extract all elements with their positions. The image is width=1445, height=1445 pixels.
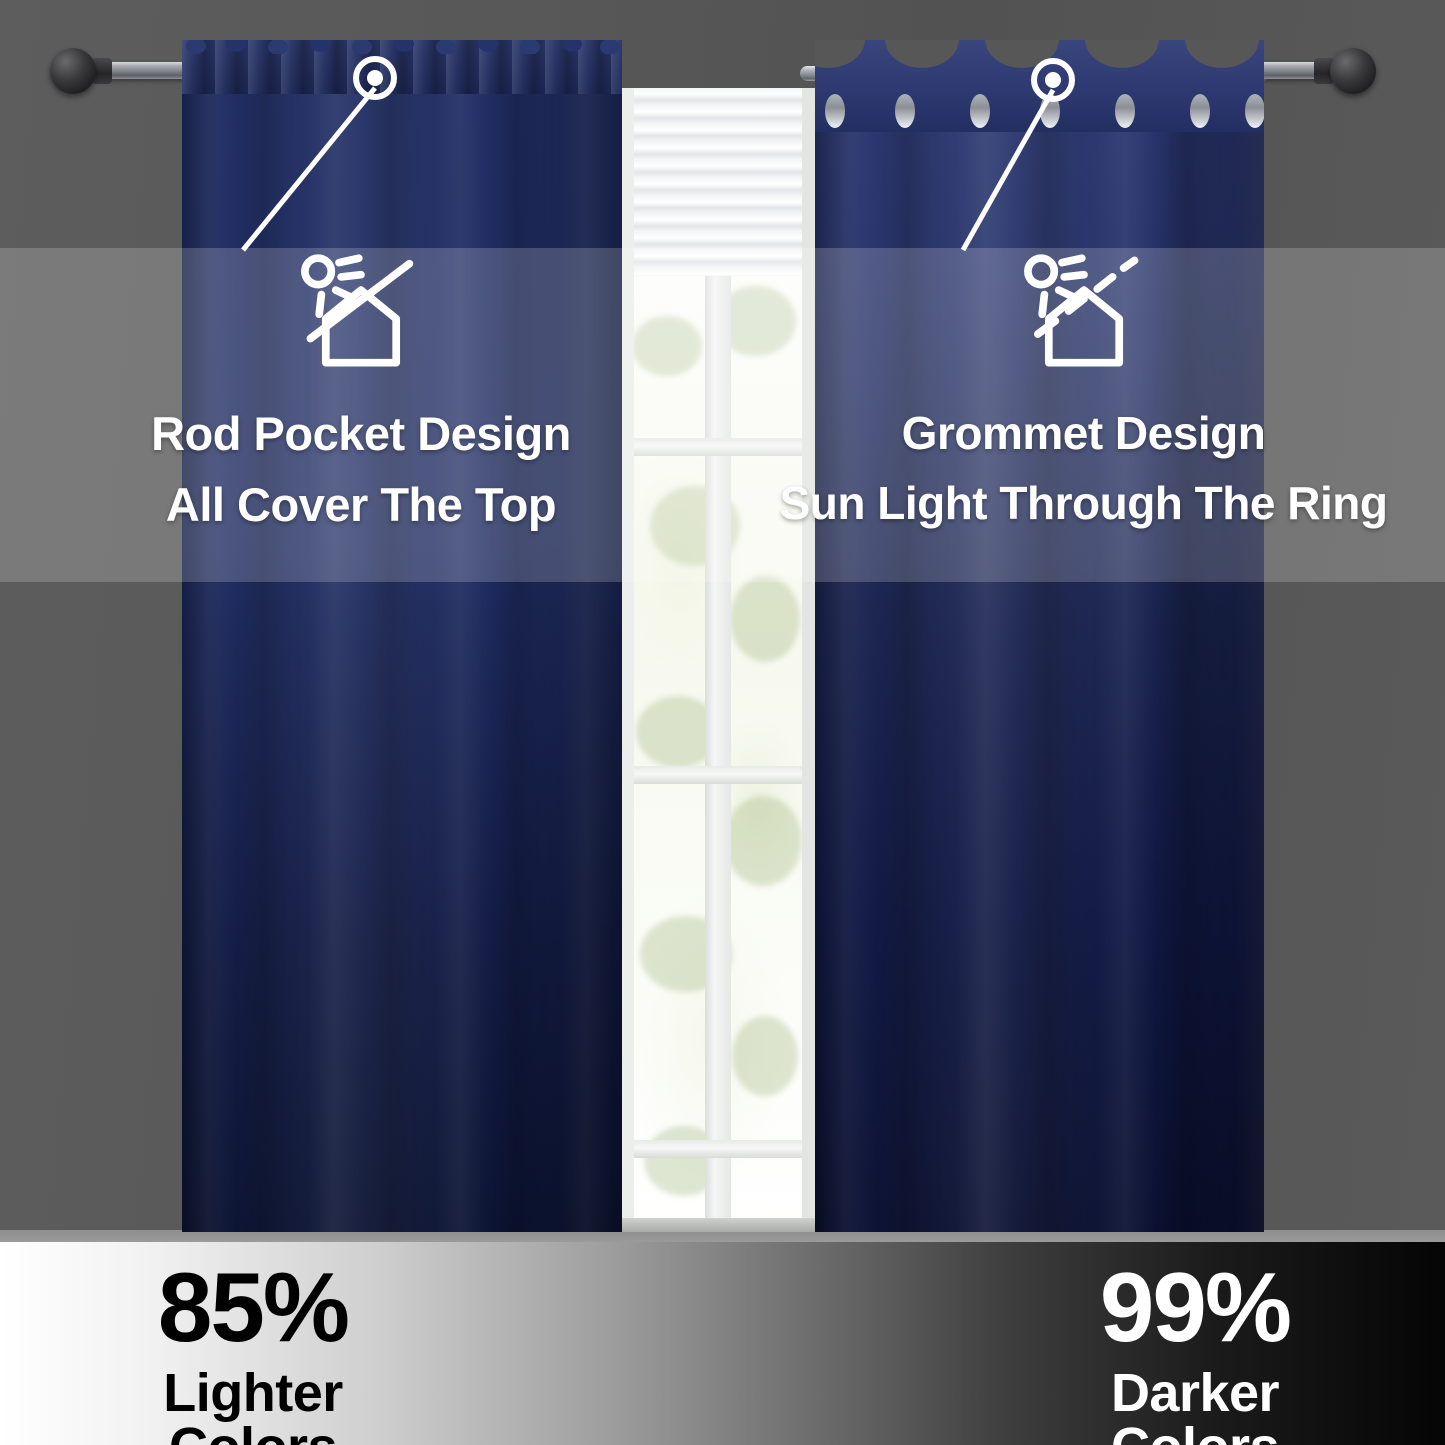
stat-darker-colors: 99% Darker Colors xyxy=(1030,1258,1360,1445)
feature-block-rod-pocket: Rod Pocket Design All Cover The Top xyxy=(0,248,722,582)
stat-percent: 99% xyxy=(1030,1258,1360,1356)
grommet-ring-icon xyxy=(970,94,990,128)
curtain-fabric xyxy=(182,40,622,1232)
finial-right-icon xyxy=(1330,48,1376,94)
feature-title-line1: Grommet Design xyxy=(902,410,1266,456)
window-sill xyxy=(616,1218,820,1232)
sun-blocked-house-icon xyxy=(295,248,427,374)
curtain-panel-rod-pocket xyxy=(182,40,622,1232)
feature-block-grommet: Grommet Design Sun Light Through The Rin… xyxy=(722,248,1445,582)
window-mullion-horizontal xyxy=(620,766,816,784)
grommet-ring-icon xyxy=(825,94,845,128)
blackout-stats-banner: 85% Lighter Colors 99% Darker Colors xyxy=(0,1242,1445,1445)
stat-label: Darker Colors xyxy=(1030,1366,1360,1445)
curtain-panel-grommet xyxy=(815,40,1264,1232)
feature-overlay-band: Rod Pocket Design All Cover The Top xyxy=(0,248,1445,582)
feature-title-line2: All Cover The Top xyxy=(166,481,556,528)
stat-label: Lighter Colors xyxy=(88,1366,418,1445)
stat-percent: 85% xyxy=(88,1258,418,1356)
grommet-ring-icon xyxy=(1190,94,1210,128)
sun-through-house-icon xyxy=(1018,248,1150,374)
finial-left-icon xyxy=(50,48,96,94)
stat-lighter-colors: 85% Lighter Colors xyxy=(88,1258,418,1445)
feature-title-line2: Sun Light Through The Ring xyxy=(780,480,1388,526)
grommet-ring-icon xyxy=(1115,94,1135,128)
product-infographic: Rod Pocket Design All Cover The Top xyxy=(0,0,1445,1445)
feature-title-line1: Rod Pocket Design xyxy=(151,410,571,457)
rod-pocket-gathers xyxy=(182,40,622,54)
grommet-ring-icon xyxy=(1245,94,1264,128)
grommet-ring-icon xyxy=(895,94,915,128)
window-mullion-horizontal xyxy=(620,1140,816,1158)
grommet-ring-icon xyxy=(1040,94,1060,128)
curtain-fabric xyxy=(815,40,1264,1232)
